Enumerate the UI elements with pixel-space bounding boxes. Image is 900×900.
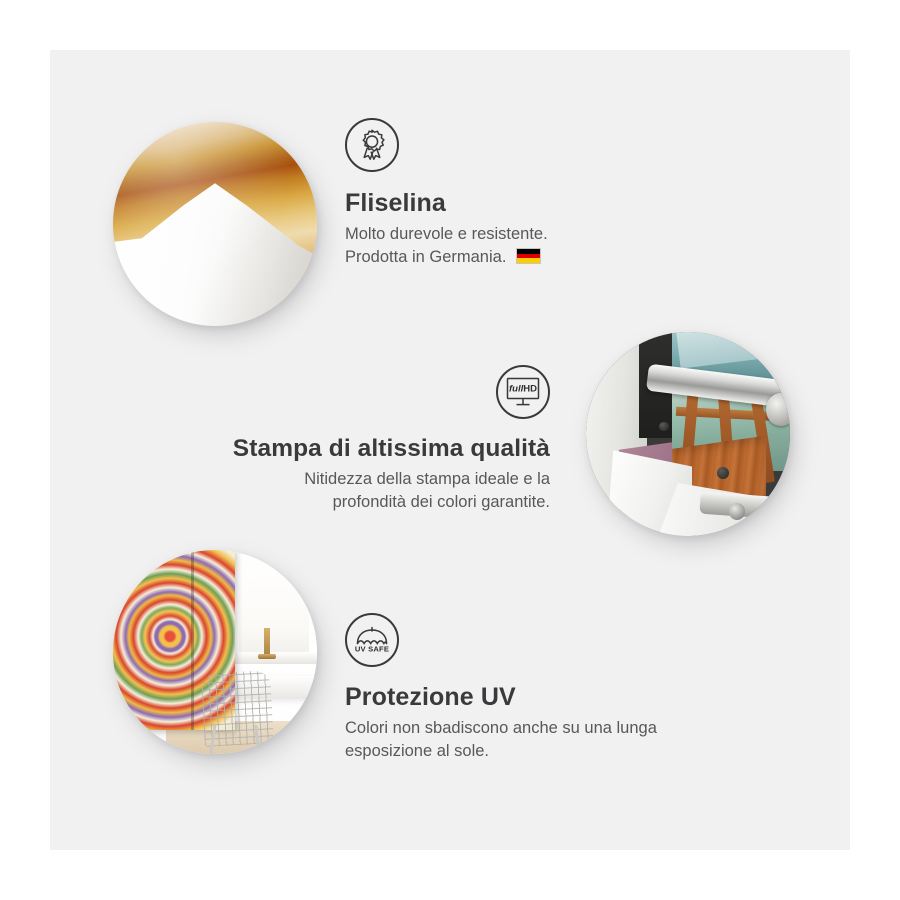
feature-title: Stampa di altissima qualità xyxy=(190,435,550,464)
fullhd-italic-label: full xyxy=(509,384,524,395)
description-line: profondità dei colori garantite. xyxy=(190,491,550,514)
printer-bolt xyxy=(729,503,745,519)
germany-flag xyxy=(516,248,541,264)
fullhd-bold-label: HD xyxy=(523,384,537,395)
infographic-canvas: Fliselina Molto durevole e resistente. P… xyxy=(0,0,900,900)
uv-safe-umbrella-icon: UV SAFE xyxy=(345,613,399,667)
feature-title: Fliselina xyxy=(345,189,765,219)
svg-text:fullHD: fullHD xyxy=(509,384,537,395)
description-line: Colori non sbadiscono anche su una lunga xyxy=(345,717,775,740)
description-line: Prodotta in Germania. xyxy=(345,246,765,269)
fullhd-monitor-icon: fullHD xyxy=(496,365,550,419)
candle-holder-base xyxy=(258,654,276,659)
feature-description: Nitidezza della stampa ideale e la profo… xyxy=(190,468,550,515)
printer-roller-cap xyxy=(766,393,790,426)
printer-knob-2 xyxy=(659,422,668,431)
printing-machine-photo xyxy=(586,332,790,536)
feature-print-quality: fullHD Stampa di altissima qualità Nitid… xyxy=(190,365,550,515)
badge-container: fullHD xyxy=(190,365,550,419)
rosette-award-icon xyxy=(345,118,399,172)
wallpaper-gloss-highlight xyxy=(113,122,317,326)
room-window xyxy=(239,554,308,660)
feature-uv-protection: UV SAFE Protezione UV Colori non sbadisc… xyxy=(345,613,775,763)
feature-title: Protezione UV xyxy=(345,683,775,713)
description-text: Prodotta in Germania. xyxy=(345,248,506,266)
feature-fliselina: Fliselina Molto durevole e resistente. P… xyxy=(345,118,765,269)
description-line: Nitidezza della stampa ideale e la xyxy=(190,468,550,491)
wallpaper-panel-seam xyxy=(191,550,194,730)
description-line: esposizione al sole. xyxy=(345,740,775,763)
feature-description: Colori non sbadiscono anche su una lunga… xyxy=(345,717,775,764)
mandala-wallpaper-room-photo xyxy=(113,550,317,754)
wallpaper-peeled-corner-photo xyxy=(113,122,317,326)
feature-description: Molto durevole e resistente. Prodotta in… xyxy=(345,223,765,270)
printer-knob-1 xyxy=(717,467,729,479)
uv-safe-label: UV SAFE xyxy=(355,645,389,654)
description-line: Molto durevole e resistente. xyxy=(345,223,765,246)
